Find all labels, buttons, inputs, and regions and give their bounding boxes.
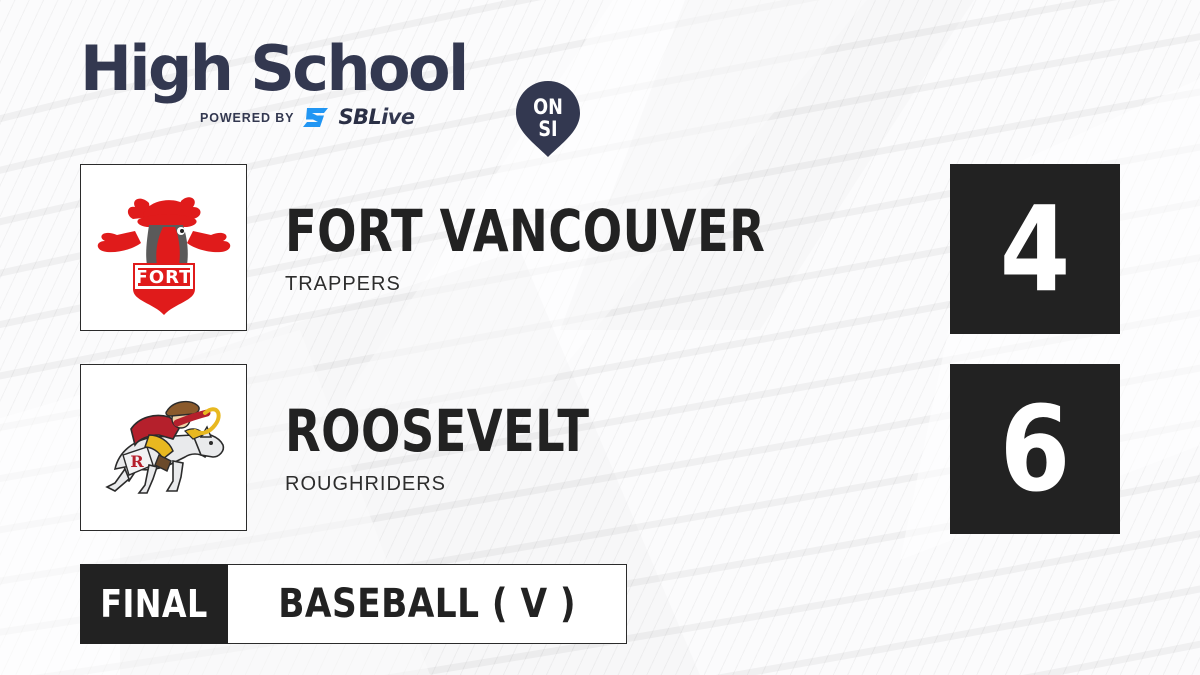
team-mascot: ROUGHRIDERS	[285, 474, 985, 494]
game-state-badge: FINAL	[80, 564, 228, 644]
brand-title: High School	[80, 38, 467, 100]
roosevelt-roughriders-logo: R	[89, 373, 239, 523]
fort-vancouver-trappers-logo: FORT	[89, 173, 239, 323]
sblive-word-bold: SBL	[338, 105, 381, 129]
sblive-wordmark: SBLive	[338, 108, 414, 127]
team-score-box: 4	[950, 164, 1120, 334]
team-info: ROOSEVELT ROUGHRIDERS	[285, 364, 985, 531]
sblive-s-icon	[303, 108, 329, 127]
team-logo-box: FORT	[80, 164, 247, 331]
sport-label: BASEBALL ( V )	[278, 581, 576, 627]
team-mascot: TRAPPERS	[285, 274, 985, 294]
pin-label-bottom: SI	[538, 117, 557, 142]
sport-label-box: BASEBALL ( V )	[228, 564, 627, 644]
svg-text:FORT: FORT	[135, 267, 192, 288]
team-score: 4	[1000, 190, 1071, 308]
team-name: FORT VANCOUVER	[285, 202, 845, 260]
scoreboard-graphic: High School ON SI POWERED BY SBLive	[0, 0, 1200, 675]
powered-by-label: POWERED BY	[200, 111, 294, 125]
game-state-label: FINAL	[100, 582, 208, 626]
powered-by-block: POWERED BY SBLive	[200, 108, 415, 127]
team-score-box: 6	[950, 364, 1120, 534]
game-status-bar: FINAL BASEBALL ( V )	[80, 564, 627, 644]
team-info: FORT VANCOUVER TRAPPERS	[285, 164, 985, 331]
svg-text:R: R	[130, 452, 144, 471]
sblive-word-light: ive	[381, 105, 414, 129]
team-name: ROOSEVELT	[285, 402, 845, 460]
brand-logo: High School ON SI POWERED BY SBLive	[80, 38, 520, 138]
team-score: 6	[1000, 390, 1071, 508]
on-si-pin-icon: ON SI	[512, 79, 584, 159]
team-logo-box: R	[80, 364, 247, 531]
